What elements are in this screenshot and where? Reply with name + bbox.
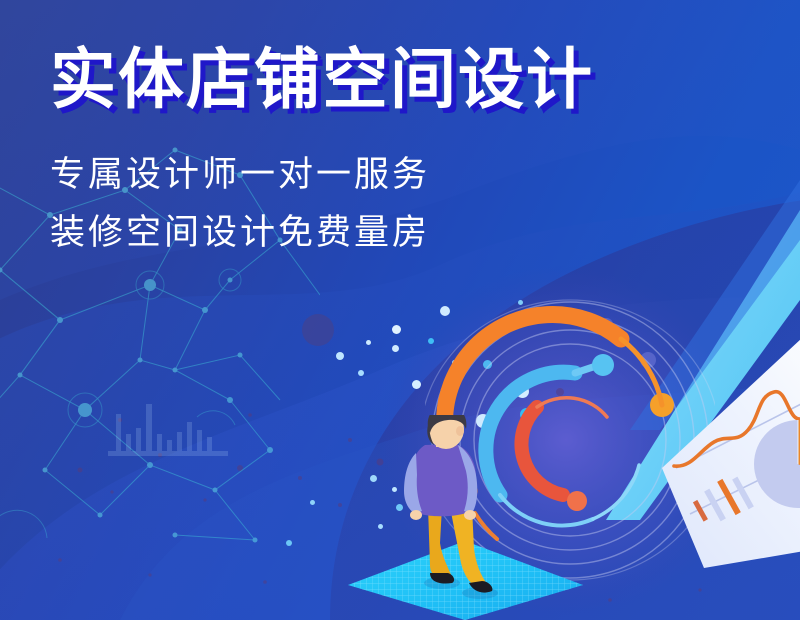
subtitle-line-2: 装修空间设计免费量房 bbox=[50, 211, 750, 255]
subtitle-group: 专属设计师一对一服务 装修空间设计免费量房 bbox=[50, 153, 750, 255]
person-on-platform-illustration bbox=[330, 415, 600, 620]
subtitle-line-1: 专属设计师一对一服务 bbox=[50, 153, 750, 197]
banner-copy: 实体店铺空间设计 专属设计师一对一服务 装修空间设计免费量房 bbox=[50, 44, 750, 269]
promo-banner: 实体店铺空间设计 专属设计师一对一服务 装修空间设计免费量房 bbox=[0, 0, 800, 620]
analytics-dashboard-panel bbox=[652, 318, 800, 568]
page-title: 实体店铺空间设计 bbox=[50, 44, 750, 115]
